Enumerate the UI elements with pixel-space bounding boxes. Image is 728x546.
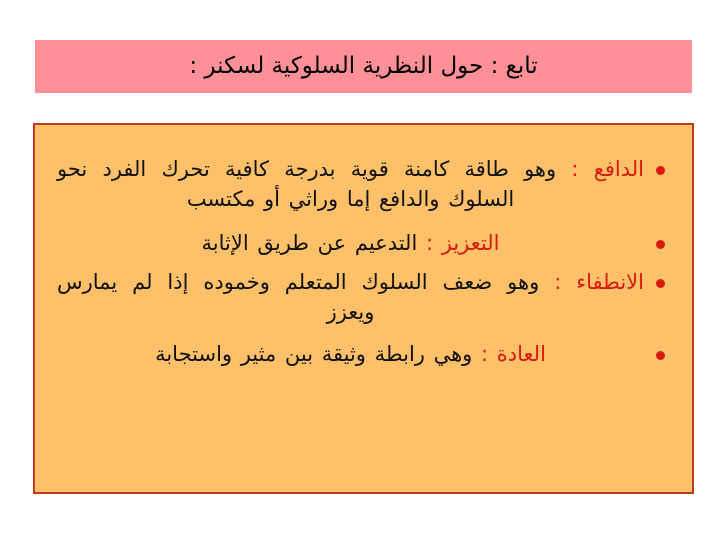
bullet-text: التدعيم عن طريق الإثابة xyxy=(202,231,426,255)
slide-title-banner: تابع : حول النظرية السلوكية لسكنر : xyxy=(35,40,692,93)
bullet-text: وهي رابطة وثيقة بين مثير واستجابة xyxy=(155,342,481,366)
bullet-keyword: التعزيز xyxy=(442,231,500,255)
bullet-separator: : xyxy=(481,342,497,366)
slide-canvas: تابع : حول النظرية السلوكية لسكنر : الدا… xyxy=(0,0,728,546)
list-item: الانطفاء : وهو ضعف السلوك المتعلم وخموده… xyxy=(57,268,670,328)
bullet-separator: : xyxy=(554,270,576,294)
bullet-keyword: العادة xyxy=(497,342,546,366)
slide-title: تابع : حول النظرية السلوكية لسكنر : xyxy=(189,54,537,79)
slide-content-box: الدافع : وهو طاقة كامنة قوية بدرجة كافية… xyxy=(33,123,694,494)
list-item: العادة : وهي رابطة وثيقة بين مثير واستجا… xyxy=(57,340,670,370)
bullet-text: وهو طاقة كامنة قوية بدرجة كافية تحرك الف… xyxy=(57,157,571,211)
bullet-list: الدافع : وهو طاقة كامنة قوية بدرجة كافية… xyxy=(57,155,670,370)
bullet-separator: : xyxy=(426,231,442,255)
list-item: التعزيز : التدعيم عن طريق الإثابة xyxy=(57,229,670,259)
bullet-text: وهو ضعف السلوك المتعلم وخموده إذا لم يما… xyxy=(57,270,554,324)
bullet-keyword: الدافع xyxy=(594,157,644,181)
bullet-separator: : xyxy=(571,157,593,181)
list-item: الدافع : وهو طاقة كامنة قوية بدرجة كافية… xyxy=(57,155,670,215)
bullet-keyword: الانطفاء xyxy=(576,270,644,294)
